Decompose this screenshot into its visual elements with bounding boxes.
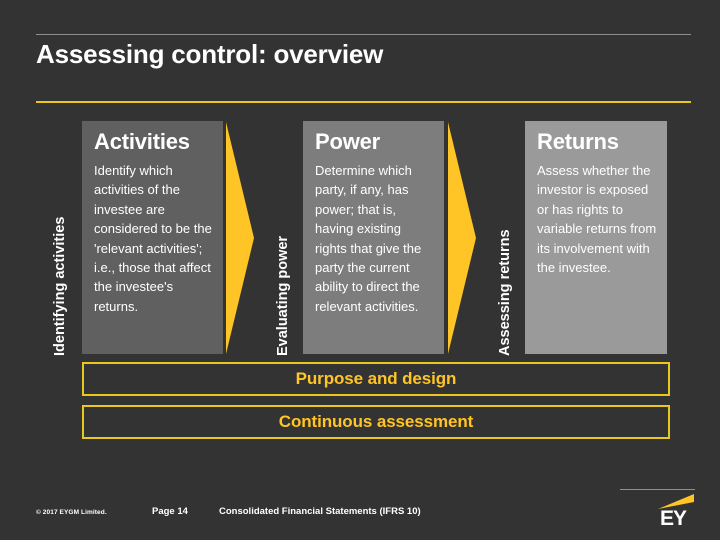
step-side-label-identifying-activities: Identifying activities [52, 170, 68, 356]
step-panel-power: Power Determine which party, if any, has… [303, 121, 444, 354]
slide-canvas: Assessing control: overview Identifying … [0, 0, 720, 540]
step-side-label-assessing-returns: Assessing returns [497, 182, 513, 356]
banner-purpose-and-design: Purpose and design [82, 362, 670, 396]
step-body-activities: Identify which activities of the investe… [94, 161, 213, 316]
chevron-right-arrow-icon [446, 122, 494, 354]
ey-logo-text: EY [660, 508, 686, 529]
footer-page-number: Page 14 [152, 506, 188, 517]
step-heading-activities: Activities [94, 129, 213, 155]
step-panel-returns: Returns Assess whether the investor is e… [525, 121, 667, 354]
step-side-label-evaluating-power: Evaluating power [275, 172, 291, 356]
logo-divider [620, 489, 695, 490]
footer-copyright: © 2017 EYGM Limited. [36, 509, 107, 516]
step-body-returns: Assess whether the investor is exposed o… [537, 161, 657, 277]
step-heading-returns: Returns [537, 129, 657, 155]
ey-logo: EY [650, 492, 702, 534]
footer-subject: Consolidated Financial Statements (IFRS … [219, 506, 421, 517]
step-panel-activities: Activities Identify which activities of … [82, 121, 223, 354]
banner-continuous-assessment: Continuous assessment [82, 405, 670, 439]
chevron-right-arrow-icon [224, 122, 272, 354]
assessing-control-diagram: Identifying activities Activities Identi… [0, 0, 720, 540]
step-body-power: Determine which party, if any, has power… [315, 161, 434, 316]
step-heading-power: Power [315, 129, 434, 155]
